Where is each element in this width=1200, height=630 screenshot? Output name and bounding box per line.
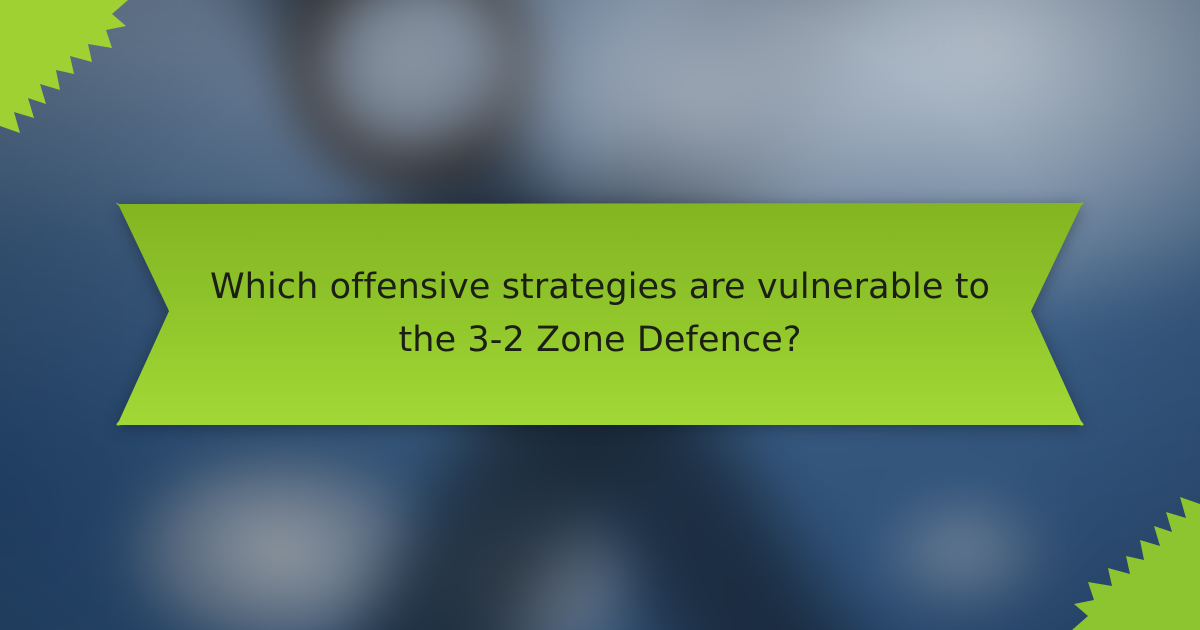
ribbon-banner: Which offensive strategies are vulnerabl…	[105, 198, 1095, 429]
banner-heading: Which offensive strategies are vulnerabl…	[200, 260, 1000, 366]
social-card: Which offensive strategies are vulnerabl…	[0, 0, 1200, 630]
